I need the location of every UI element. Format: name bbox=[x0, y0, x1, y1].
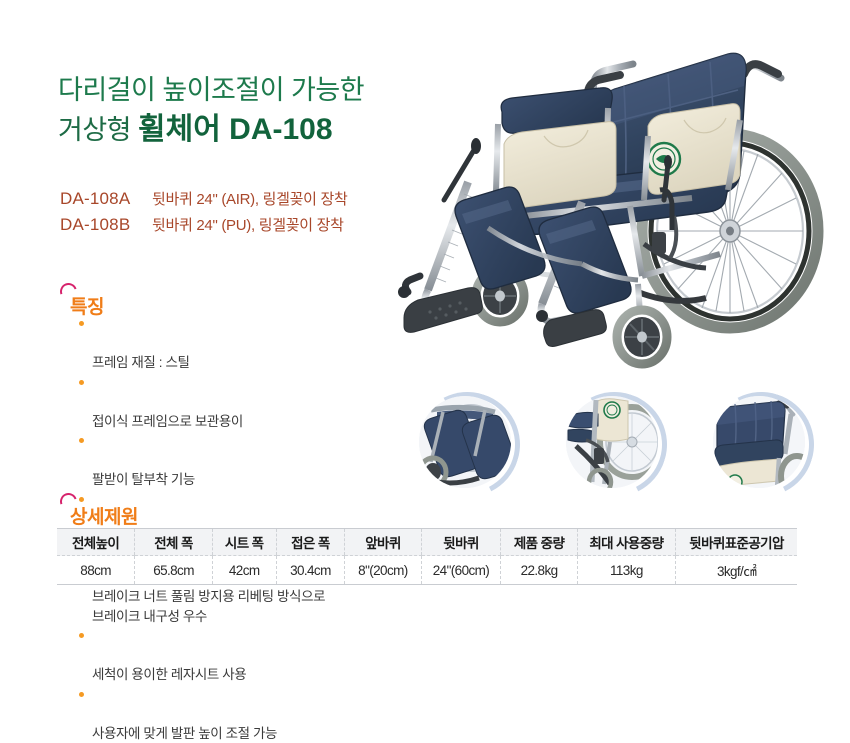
bullet-dot-icon bbox=[79, 380, 84, 385]
table-cell: 113kg bbox=[577, 556, 675, 585]
bullet-dot-icon bbox=[79, 692, 84, 697]
list-item: 사용자에 맞게 발판 높이 조절 가능 bbox=[78, 685, 398, 743]
detail-photo-strip bbox=[415, 392, 850, 497]
backrest-armrest-detail bbox=[709, 392, 814, 497]
detail-photo bbox=[713, 396, 805, 488]
model-code: DA-108A bbox=[60, 186, 152, 211]
table-cell: 42cm bbox=[212, 556, 276, 585]
model-code: DA-108B bbox=[60, 212, 152, 237]
bullet-dot-icon bbox=[79, 438, 84, 443]
list-item: 팔받이 탈부착 기능 bbox=[78, 431, 398, 490]
product-sheet-page: 다리걸이 높이조절이 가능한 거상형 휠체어 DA-108 DA-108A뒷바퀴… bbox=[0, 0, 850, 650]
table-header-cell: 전체높이 bbox=[57, 529, 135, 556]
table-cell: 3kgf/㎠ bbox=[676, 556, 797, 585]
table-header-cell: 전체 폭 bbox=[135, 529, 213, 556]
feature-text: 프레임 재질 : 스틸 bbox=[92, 355, 190, 370]
specifications-table: 전체높이 전체 폭 시트 폭 접은 폭 앞바퀴 뒷바퀴 제품 중량 최대 사용중… bbox=[57, 528, 797, 585]
table-header-cell: 시트 폭 bbox=[212, 529, 276, 556]
list-item: 세척이 용이한 레자시트 사용 bbox=[78, 626, 398, 685]
headline-line-2-prefix: 거상형 bbox=[58, 115, 138, 145]
table-cell: 30.4cm bbox=[276, 556, 345, 585]
table-header-cell: 제품 중량 bbox=[501, 529, 577, 556]
table-cell: 24"(60cm) bbox=[421, 556, 501, 585]
table-cell: 22.8kg bbox=[501, 556, 577, 585]
bullet-dot-icon bbox=[79, 321, 84, 326]
table-header-cell: 앞바퀴 bbox=[345, 529, 421, 556]
headline-model-name: 휠체어 DA-108 bbox=[138, 113, 333, 146]
list-item: 접이식 프레임으로 보관용이 bbox=[78, 373, 398, 432]
table-row: 88cm 65.8cm 42cm 30.4cm 8"(20cm) 24"(60c… bbox=[57, 556, 797, 585]
table-cell: 65.8cm bbox=[135, 556, 213, 585]
bullet-dot-icon bbox=[79, 633, 84, 638]
table-header-cell: 뒷바퀴 bbox=[421, 529, 501, 556]
side-panel-right bbox=[648, 104, 740, 195]
feature-text: 접이식 프레임으로 보관용이 bbox=[92, 414, 243, 429]
feature-text: 세척이 용이한 레자시트 사용 bbox=[92, 667, 246, 682]
detail-photo bbox=[419, 396, 511, 488]
specs-section-header: 상세제원 bbox=[70, 502, 138, 529]
wheelchair-main-photo bbox=[392, 4, 850, 396]
detail-photo bbox=[566, 396, 658, 488]
model-description: 뒷바퀴 24" (AIR), 링겔꽂이 장착 bbox=[152, 191, 347, 208]
table-cell: 88cm bbox=[57, 556, 135, 585]
table-header-cell: 뒷바퀴표준공기압 bbox=[676, 529, 797, 556]
elevating-legrest-detail bbox=[415, 392, 520, 497]
feature-text: 팔받이 탈부착 기능 bbox=[92, 472, 195, 487]
list-item: 프레임 재질 : 스틸 bbox=[78, 314, 398, 373]
feature-text: 브레이크 너트 풀림 방지용 리베팅 방식으로 브레이크 내구성 우수 bbox=[92, 589, 325, 624]
table-cell: 8"(20cm) bbox=[345, 556, 421, 585]
table-header-cell: 접은 폭 bbox=[276, 529, 345, 556]
side-frame-detail bbox=[562, 392, 667, 497]
table-header-row: 전체높이 전체 폭 시트 폭 접은 폭 앞바퀴 뒷바퀴 제품 중량 최대 사용중… bbox=[57, 529, 797, 556]
model-description: 뒷바퀴 24" (PU), 링겔꽂이 장착 bbox=[152, 217, 344, 234]
specs-section-title: 상세제원 bbox=[70, 507, 138, 528]
bullet-dot-icon bbox=[79, 497, 84, 502]
table-header-cell: 최대 사용중량 bbox=[577, 529, 675, 556]
feature-text: 사용자에 맞게 발판 높이 조절 가능 bbox=[92, 726, 277, 741]
brand-logo-icon bbox=[648, 143, 680, 175]
